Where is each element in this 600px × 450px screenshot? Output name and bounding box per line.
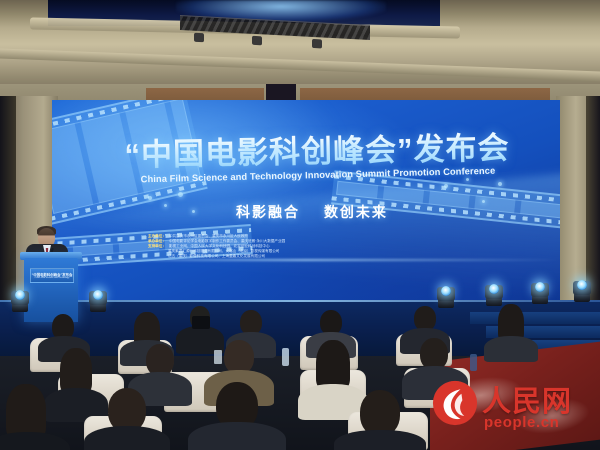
podium-sign-english: China Film Science and Technology <box>35 277 70 279</box>
ceiling <box>0 0 600 92</box>
watermark-people-cn: 人民网 people.cn <box>432 378 594 440</box>
credit-row: 达五（重庆）影像科技有限公司、上海菱趣文化发展有限公司 <box>148 254 448 259</box>
credit-text: 影视工业网、中国人民大学文化科技园、北京创业科创科技中心 <box>169 244 270 249</box>
moving-head-light <box>572 276 592 302</box>
credit-label: 主办单位： <box>148 234 166 239</box>
water-bottle <box>470 354 477 371</box>
podium-sign: “中国电影科创峰会”发布会 China Film Science and Tec… <box>30 268 74 283</box>
slogan-part-right: 数创未来 <box>324 204 388 220</box>
slogan-part-left: 科影融合 <box>236 204 300 220</box>
truss-lamp-icon <box>312 39 322 49</box>
credit-row: 支持单位： 影视工业网、中国人民大学文化科技园、北京创业科创科技中心 <box>148 244 448 249</box>
truss-lamp-icon <box>252 36 262 46</box>
video-camera-icon <box>192 316 210 329</box>
credit-row: 承办单位： 中国电影评论学会电影数字制作工作委员会、重庆班朗·永川大数据产业园 <box>148 239 448 244</box>
conference-photo: “中国电影科创峰会”发布会 China Film Science and Tec… <box>0 0 600 450</box>
bokeh-dot <box>466 178 469 181</box>
bokeh-dot <box>148 196 152 200</box>
bokeh-dot <box>498 182 502 186</box>
bokeh-dot <box>482 200 485 203</box>
credit-label: 支持单位： <box>148 244 166 249</box>
credit-text: 重庆紫君汇源行科技服务有限公司、火喀山（北京）影视传媒有限公司 <box>168 249 279 254</box>
credit-text: 中国电影评论学会电影数字制作工作委员会、重庆班朗·永川大数据产业园 <box>169 239 285 244</box>
credit-text: 达五（重庆）影像科技有限公司、上海菱趣文化发展有限公司 <box>168 254 265 259</box>
credit-row: 重庆紫君汇源行科技服务有限公司、火喀山（北京）影视传媒有限公司 <box>148 249 448 254</box>
credit-text: 中共重庆市永川区委员会、重庆市永川区人民政府 <box>169 234 248 239</box>
credit-row: 主办单位： 中共重庆市永川区委员会、重庆市永川区人民政府 <box>148 234 448 239</box>
water-bottle <box>282 348 289 366</box>
bokeh-dot <box>444 184 448 188</box>
credit-label: 承办单位： <box>148 239 166 244</box>
bokeh-dot <box>178 192 183 197</box>
truss-lamp-icon <box>194 33 204 43</box>
drinking-glass <box>214 350 222 364</box>
ceiling-lower-rim <box>0 48 600 81</box>
screen-slogan: 科影融合 数创未来 <box>162 202 462 222</box>
screen-credits-block: 主办单位： 中共重庆市永川区委员会、重庆市永川区人民政府 承办单位： 中国电影评… <box>148 234 448 259</box>
people-cn-logo-icon <box>432 380 478 426</box>
watermark-brand-english: people.cn <box>484 414 559 431</box>
